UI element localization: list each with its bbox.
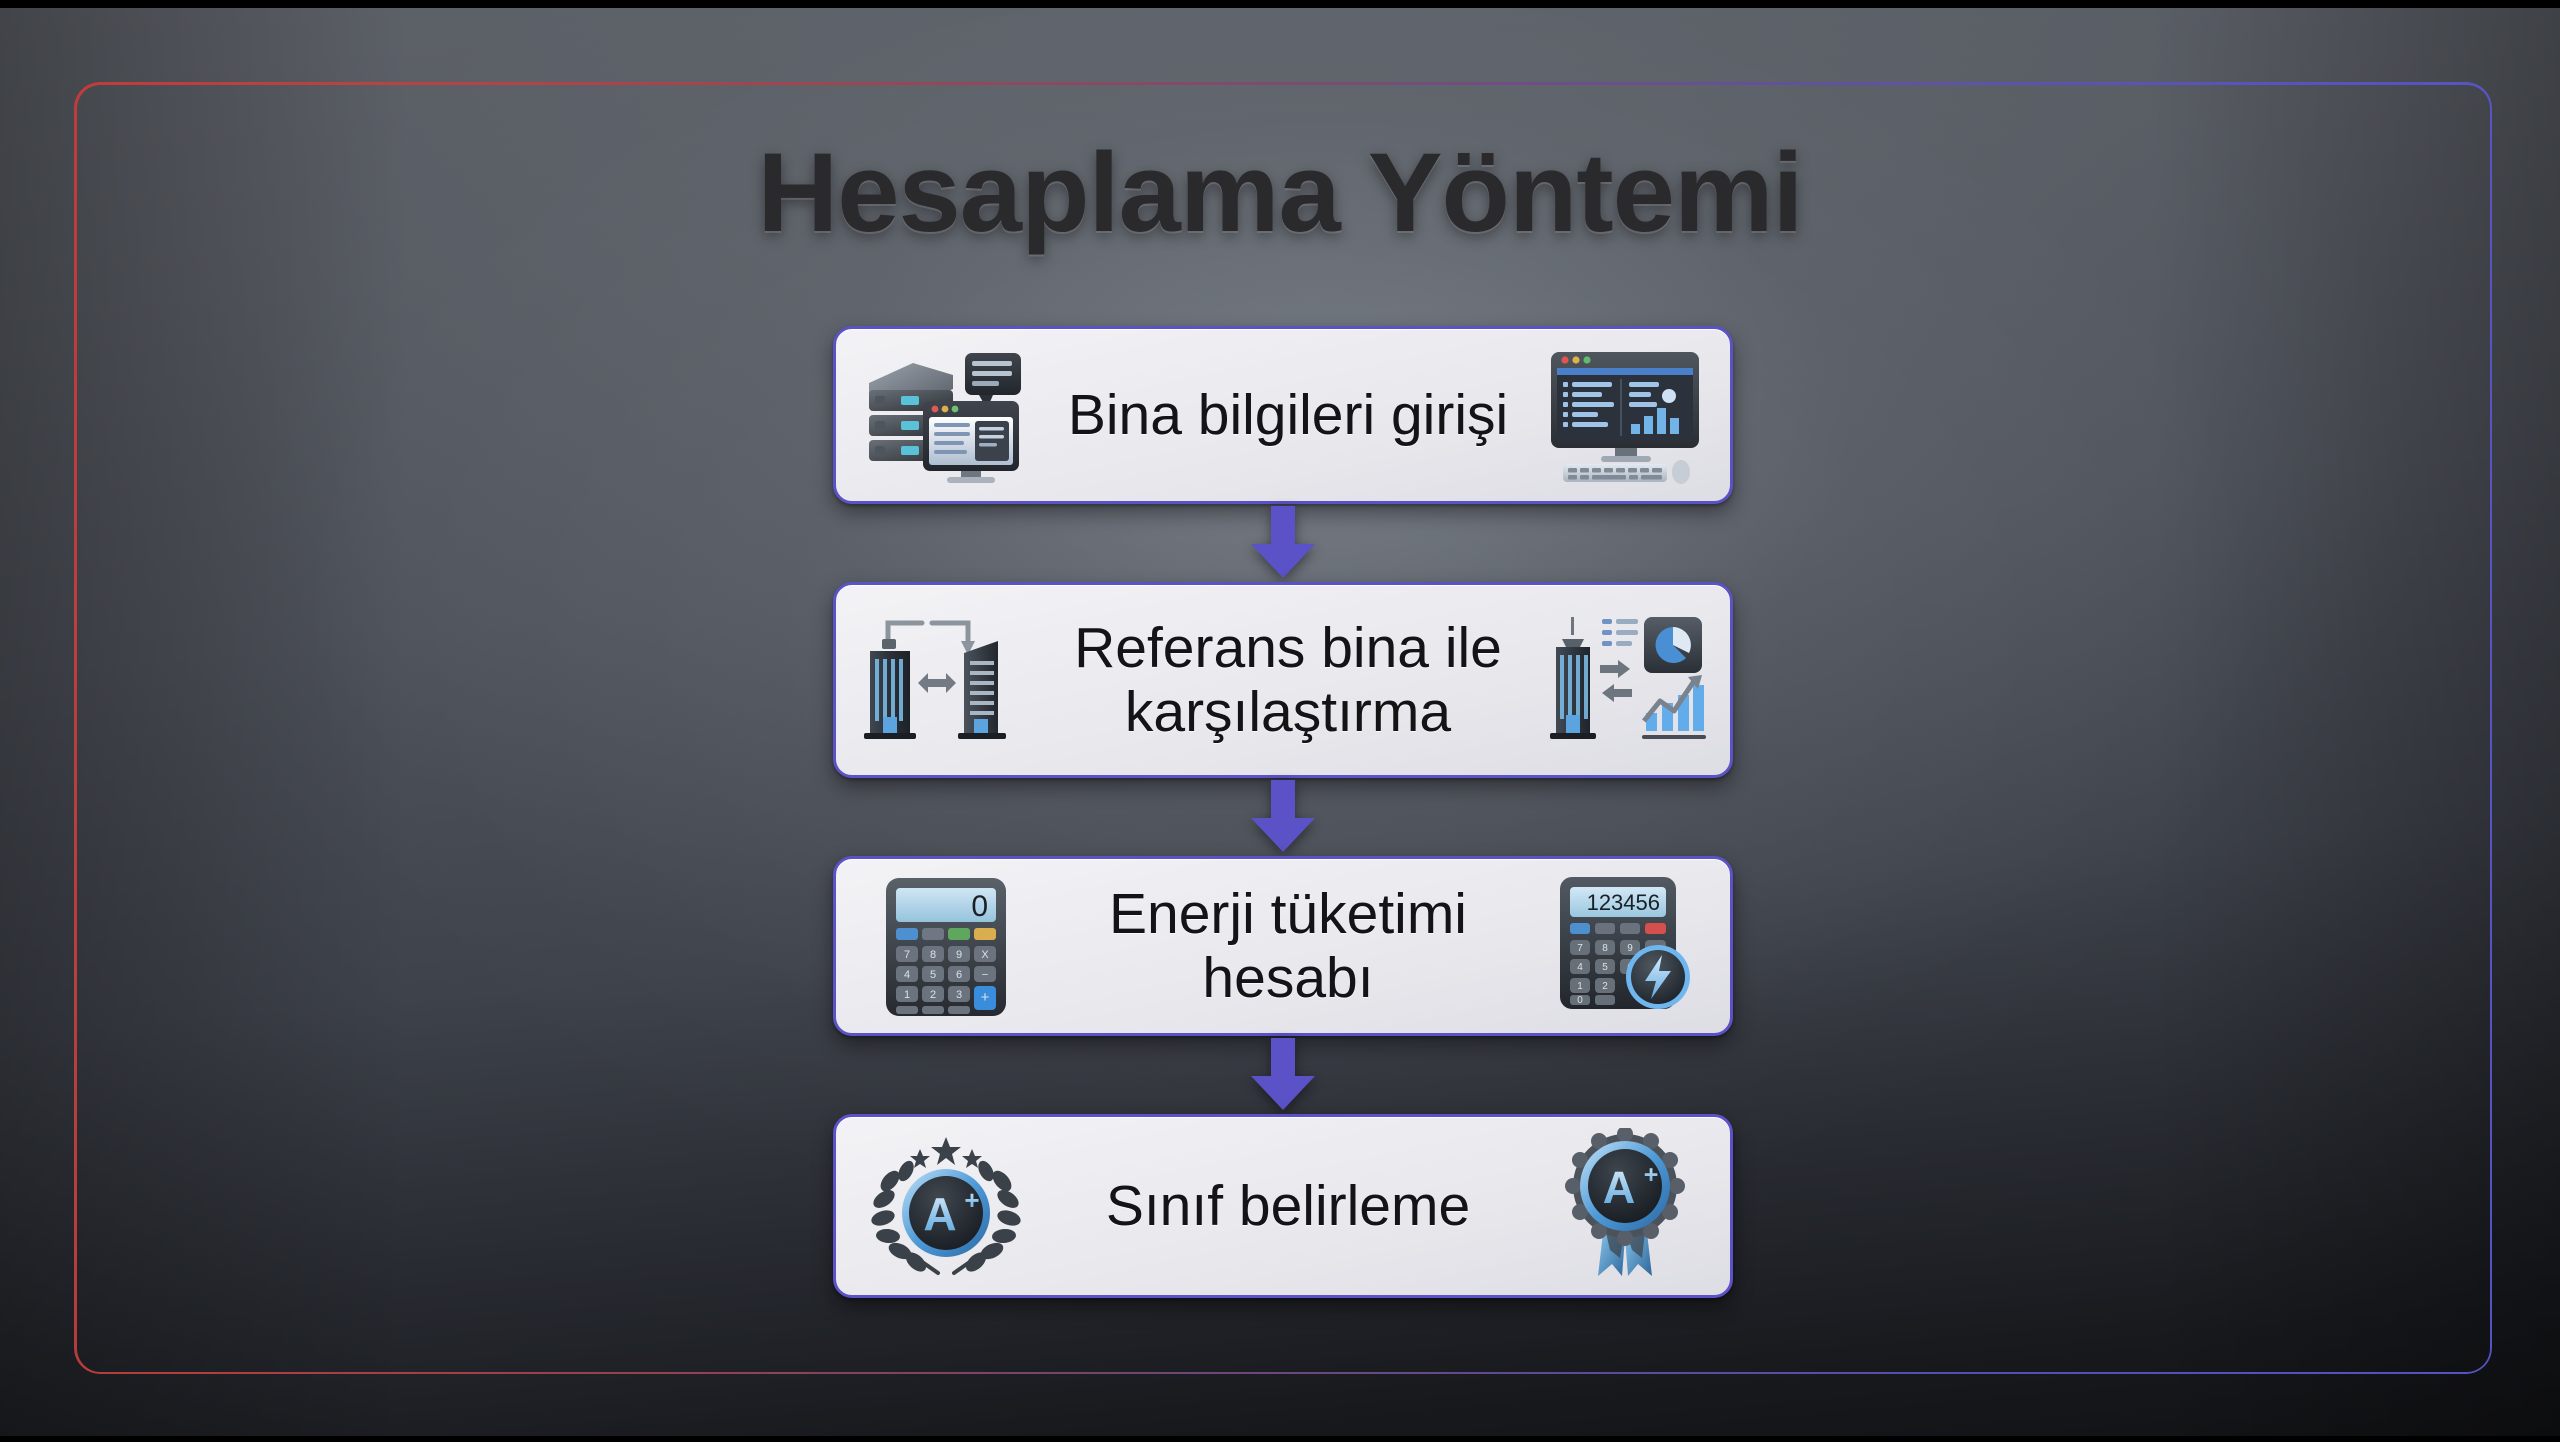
- svg-text:5: 5: [1602, 962, 1608, 973]
- award-ribbon-a-plus-icon: A +: [1536, 1117, 1714, 1295]
- flow-step-label: Sınıf belirleme: [1040, 1174, 1536, 1238]
- svg-text:1: 1: [904, 989, 910, 1001]
- svg-text:4: 4: [1577, 962, 1583, 973]
- svg-text:2: 2: [930, 989, 936, 1001]
- svg-text:5: 5: [930, 969, 936, 981]
- down-arrow-icon: [833, 778, 1733, 856]
- down-arrow-icon: [833, 504, 1733, 582]
- calculator-zero-icon: 0: [852, 859, 1040, 1033]
- svg-text:2: 2: [1602, 981, 1608, 992]
- server-database-monitor-icon: [852, 329, 1040, 501]
- letterbox-bottom-bar: [0, 1436, 2560, 1442]
- flow-step-referans-bina-ile-karsilastirma[interactable]: Referans bina ile karşılaştırma: [833, 582, 1733, 778]
- svg-text:7: 7: [1577, 943, 1583, 954]
- flow-step-enerji-tuketimi-hesabi[interactable]: 0: [833, 856, 1733, 1036]
- svg-text:4: 4: [904, 969, 910, 981]
- svg-text:7: 7: [904, 949, 910, 961]
- flowchart: Bina bilgileri girişi: [833, 326, 1733, 1298]
- svg-text:8: 8: [1602, 943, 1608, 954]
- svg-text:0: 0: [971, 890, 988, 923]
- flow-step-sinif-belirleme[interactable]: A + Sınıf belirleme: [833, 1114, 1733, 1298]
- svg-text:123456: 123456: [1587, 890, 1660, 915]
- svg-text:X: X: [981, 949, 989, 961]
- page-title: Hesaplama Yöntemi: [0, 128, 2560, 257]
- svg-text:0: 0: [1577, 995, 1583, 1006]
- svg-text:−: −: [982, 969, 988, 981]
- flow-step-label: Enerji tüketimi hesabı: [1040, 882, 1536, 1011]
- svg-text:8: 8: [930, 949, 936, 961]
- grade-letter: A: [923, 1188, 956, 1240]
- calculator-energy-bolt-icon: 123456 789− 456: [1536, 859, 1714, 1033]
- svg-text:1: 1: [1577, 981, 1583, 992]
- svg-text:9: 9: [1627, 943, 1633, 954]
- svg-text:3: 3: [956, 989, 962, 1001]
- svg-text:9: 9: [956, 949, 962, 961]
- svg-text:6: 6: [956, 969, 962, 981]
- flow-step-bina-bilgileri-girisi[interactable]: Bina bilgileri girişi: [833, 326, 1733, 504]
- grade-letter: A: [1603, 1162, 1636, 1213]
- letterbox-top-bar: [0, 0, 2560, 8]
- flow-step-label: Referans bina ile karşılaştırma: [1040, 616, 1536, 745]
- building-pie-chart-bar-chart-icon: [1536, 585, 1714, 775]
- down-arrow-icon: [833, 1036, 1733, 1114]
- two-buildings-compare-icon: [852, 585, 1040, 775]
- flow-step-label: Bina bilgileri girişi: [1040, 383, 1536, 447]
- grade-plus: +: [964, 1185, 979, 1215]
- grade-plus: +: [1644, 1161, 1659, 1189]
- laurel-wreath-a-plus-badge-icon: A +: [852, 1117, 1040, 1295]
- svg-text:+: +: [981, 989, 990, 1006]
- slide-stage: Hesaplama Yöntemi: [0, 0, 2560, 1442]
- desktop-computer-dashboard-icon: [1536, 329, 1714, 501]
